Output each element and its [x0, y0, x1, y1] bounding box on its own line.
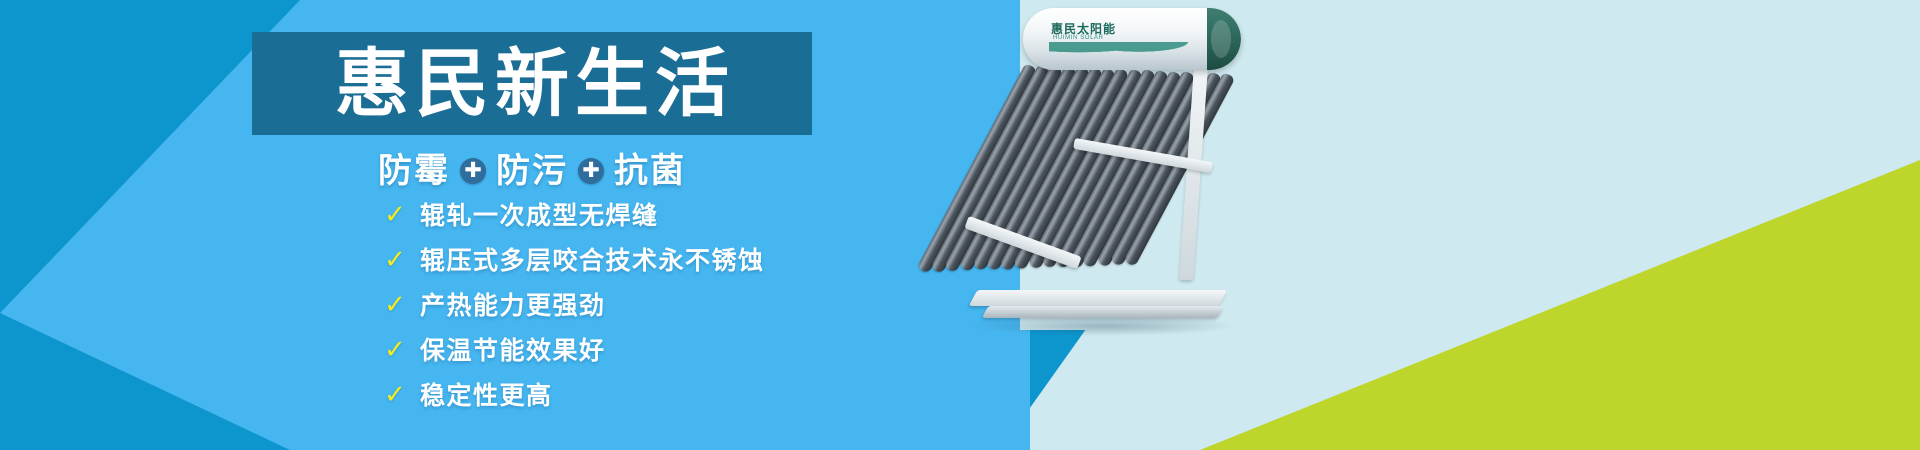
tank-brand-subtext: HUIMIN SOLAR — [1053, 35, 1104, 41]
feature-label: 辊压式多层咬合技术永不锈蚀 — [420, 241, 765, 277]
subtitle-part-2: 防污 — [496, 143, 568, 192]
check-icon: ✓ — [384, 201, 406, 227]
plus-icon-2: ✚ — [578, 158, 604, 184]
tank-end-cap — [1207, 8, 1241, 70]
check-icon: ✓ — [384, 336, 406, 362]
banner-title: 惠民新生活 — [329, 47, 735, 121]
feature-list: ✓ 辊轧一次成型无焊缝 ✓ 辊压式多层咬合技术永不锈蚀 ✓ 产热能力更强劲 ✓ … — [384, 196, 765, 412]
subtitle-part-1: 防霉 — [378, 143, 450, 192]
feature-item: ✓ 辊轧一次成型无焊缝 — [384, 196, 765, 232]
banner-subtitle: 防霉 ✚ 防污 ✚ 抗菌 — [252, 143, 812, 192]
subtitle-part-3: 抗菌 — [614, 143, 686, 192]
check-icon: ✓ — [384, 291, 406, 317]
frame-base-rail-2 — [982, 306, 1224, 318]
feature-label: 保温节能效果好 — [420, 331, 606, 367]
check-icon: ✓ — [384, 381, 406, 407]
feature-item: ✓ 保温节能效果好 — [384, 331, 765, 367]
feature-item: ✓ 稳定性更高 — [384, 376, 765, 412]
water-tank: 惠民太阳能 HUIMIN SOLAR — [1023, 8, 1241, 70]
feature-item: ✓ 产热能力更强劲 — [384, 286, 765, 322]
feature-label: 辊轧一次成型无焊缝 — [420, 196, 659, 232]
feature-label: 稳定性更高 — [420, 376, 553, 412]
solar-water-heater-image: 惠民太阳能 HUIMIN SOLAR — [955, 0, 1275, 360]
title-box: 惠民新生活 — [252, 32, 812, 135]
banner-content: 惠民新生活 防霉 ✚ 防污 ✚ 抗菌 ✓ 辊轧一次成型无焊缝 ✓ 辊压式多层咬合… — [0, 0, 1030, 450]
plus-icon-1: ✚ — [460, 158, 486, 184]
check-icon: ✓ — [384, 246, 406, 272]
frame-base-rail — [969, 290, 1228, 306]
feature-label: 产热能力更强劲 — [420, 286, 606, 322]
feature-item: ✓ 辊压式多层咬合技术永不锈蚀 — [384, 241, 765, 277]
tank-wave-graphic — [1049, 42, 1199, 60]
promo-banner: 惠民新生活 防霉 ✚ 防污 ✚ 抗菌 ✓ 辊轧一次成型无焊缝 ✓ 辊压式多层咬合… — [0, 0, 1920, 450]
